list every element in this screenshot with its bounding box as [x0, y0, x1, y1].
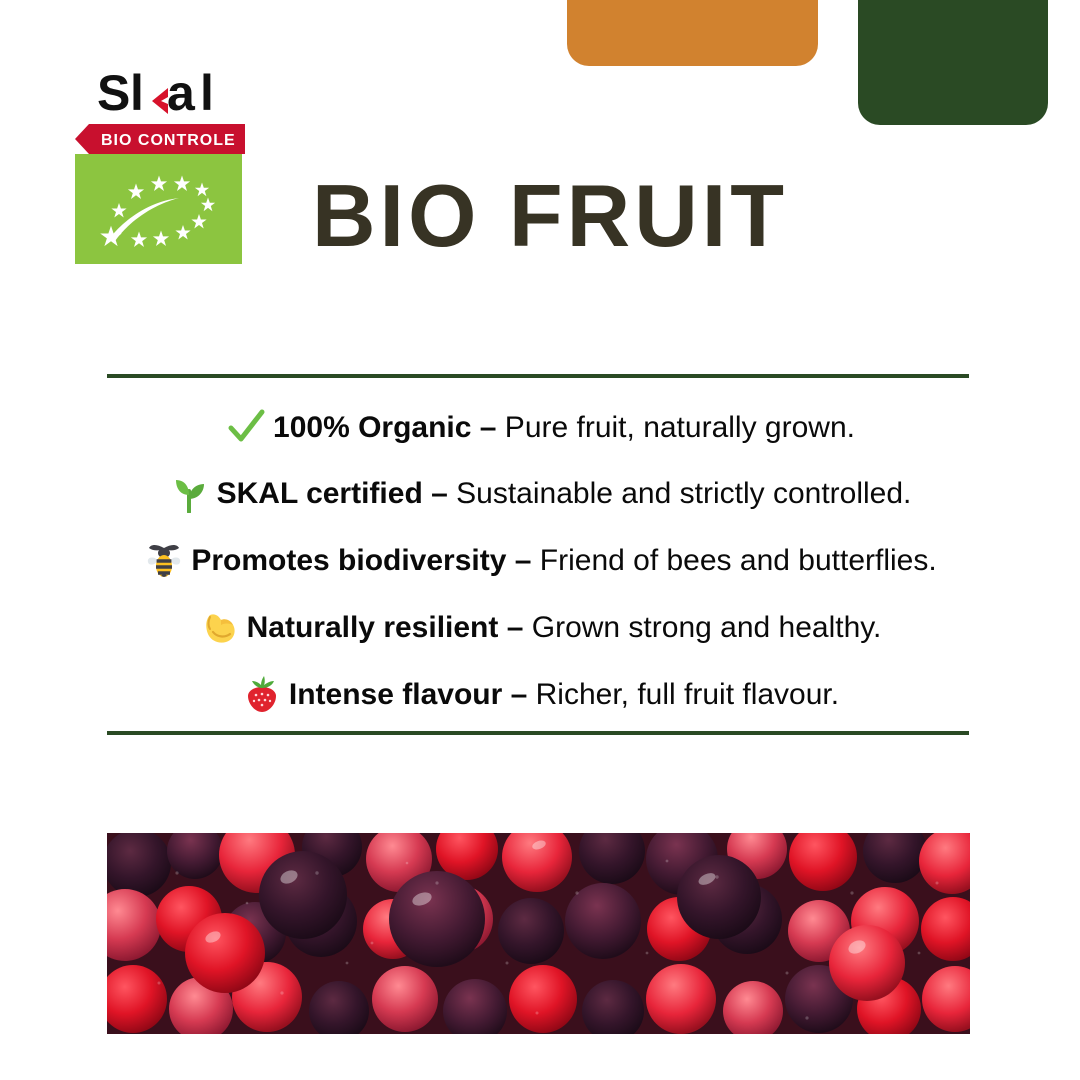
- feature-rest: Sustainable and strictly controlled.: [448, 477, 912, 510]
- header: S l a l BIO CONTROLE: [0, 0, 1080, 330]
- feature-row: Naturally resilient – Grown strong and h…: [0, 601, 1080, 653]
- feature-lead: Intense flavour –: [289, 678, 527, 711]
- skal-k-red-arm: [152, 88, 168, 114]
- feature-rest: Pure fruit, naturally grown.: [496, 411, 855, 444]
- honeybee-icon: [143, 540, 185, 582]
- feature-rest: Grown strong and healthy.: [523, 611, 881, 644]
- feature-text: Intense flavour – Richer, full fruit fla…: [289, 678, 839, 711]
- eu-organic-leaf-icon: [75, 154, 242, 264]
- feature-lead: SKAL certified –: [217, 477, 448, 510]
- feature-lead: Naturally resilient –: [247, 611, 524, 644]
- feature-row: Intense flavour – Richer, full fruit fla…: [0, 668, 1080, 720]
- feature-text: 100% Organic – Pure fruit, naturally gro…: [273, 411, 855, 444]
- feature-lead: 100% Organic –: [273, 411, 496, 444]
- svg-text:l: l: [200, 68, 214, 120]
- seedling-icon: [169, 473, 211, 515]
- check-mark-icon: [225, 406, 267, 448]
- bio-controle-banner: BIO CONTROLE: [75, 124, 245, 152]
- svg-text:l: l: [130, 68, 144, 120]
- divider-bottom: [107, 731, 969, 735]
- feature-rest: Richer, full fruit flavour.: [527, 678, 839, 711]
- divider-top: [107, 374, 969, 378]
- feature-row: Promotes biodiversity – Friend of bees a…: [0, 535, 1080, 587]
- bio-controle-label: BIO CONTROLE: [101, 132, 236, 149]
- feature-row: 100% Organic – Pure fruit, naturally gro…: [0, 401, 1080, 453]
- svg-text:a: a: [167, 68, 196, 120]
- skal-wordmark: S l a l: [97, 68, 245, 120]
- svg-text:S: S: [97, 68, 130, 120]
- flexed-biceps-icon: [199, 606, 241, 648]
- feature-text: Naturally resilient – Grown strong and h…: [247, 611, 882, 644]
- feature-rest: Friend of bees and butterflies.: [531, 544, 936, 577]
- feature-text: Promotes biodiversity – Friend of bees a…: [191, 544, 936, 577]
- feature-lead: Promotes biodiversity –: [191, 544, 531, 577]
- page-title: BIO FRUIT: [312, 172, 788, 260]
- feature-row: SKAL certified – Sustainable and strictl…: [0, 468, 1080, 520]
- berry-photo: [107, 833, 970, 1034]
- strawberry-icon: [241, 673, 283, 715]
- feature-list: 100% Organic – Pure fruit, naturally gro…: [0, 395, 1080, 720]
- feature-text: SKAL certified – Sustainable and strictl…: [217, 477, 912, 510]
- skal-logo: S l a l BIO CONTROLE: [75, 68, 245, 264]
